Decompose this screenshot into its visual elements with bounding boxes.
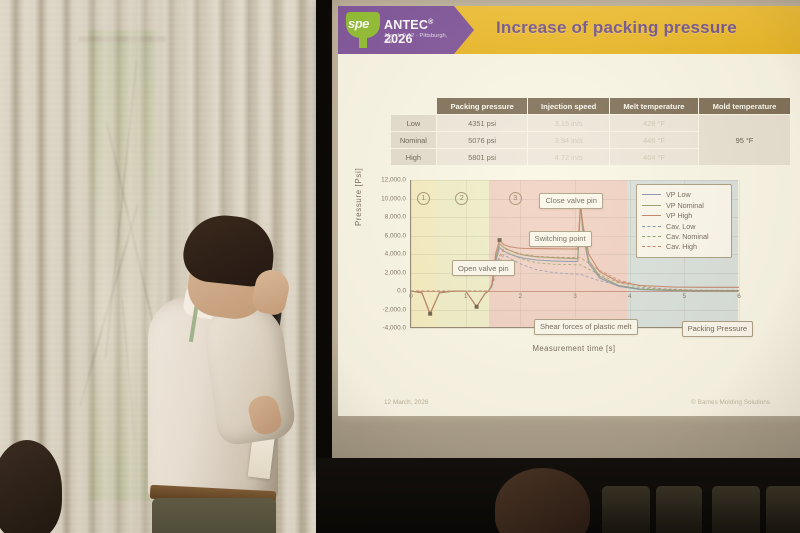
chart-annotation: Open valve pin — [452, 260, 515, 276]
chart-annotation: Shear forces of plastic melt — [534, 319, 638, 335]
chart-ytick-label: 4,000.0 — [385, 251, 411, 258]
chart-ytick-label: 12,000.0 — [381, 177, 411, 184]
chart-zone-marker-3: 3 — [509, 192, 522, 205]
chart-annotation: Switching point — [529, 231, 592, 247]
chart-data-marker — [498, 238, 502, 242]
chart-ytick-label: 8,000.0 — [385, 214, 411, 221]
legend-label: Cav. High — [666, 242, 697, 251]
row-label-low: Low — [391, 115, 437, 132]
presentation-scene: spe ANTEC® 2026 March 9-12 · Pittsburgh,… — [0, 0, 800, 533]
table-col-mold-temperature: Mold temperature — [698, 98, 790, 115]
audience-chair — [712, 486, 760, 533]
cell-injection-speed-high: 4.72 in/s — [528, 149, 609, 166]
cell-packing-pressure-low: 4351 psi — [436, 115, 528, 132]
legend-item: Cav. Low — [642, 222, 726, 231]
chart-data-marker — [475, 305, 479, 309]
chart-legend: VP LowVP NominalVP HighCav. LowCav. Nomi… — [636, 184, 732, 258]
table-row: Low 4351 psi 3.15 in/s 428 °F 95 °F — [391, 115, 791, 132]
slide-title: Increase of packing pressure — [496, 18, 737, 38]
table-col-injection-speed: Injection speed — [528, 98, 609, 115]
chart-annotation: Packing Pressure — [682, 321, 754, 337]
legend-item: Cav. Nominal — [642, 232, 726, 241]
chart-data-marker — [428, 312, 432, 316]
pressure-chart: Pressure [Psi] -4,000.0-2,000.00.02,000.… — [360, 174, 792, 374]
legend-swatch-icon — [642, 215, 661, 216]
cell-packing-pressure-high: 5801 psi — [436, 149, 528, 166]
chart-x-axis-label: Measurement time [s] — [410, 344, 738, 353]
audience-chair — [656, 486, 702, 533]
legend-label: Cav. Low — [666, 222, 695, 231]
table-col-packing-pressure: Packing pressure — [436, 98, 528, 115]
chart-zone-marker-2: 2 — [455, 192, 468, 205]
slide-header: spe ANTEC® 2026 March 9-12 · Pittsburgh,… — [338, 6, 800, 54]
table-header-row: Packing pressure Injection speed Melt te… — [391, 98, 791, 115]
legend-item: VP High — [642, 211, 726, 220]
legend-label: VP High — [666, 211, 692, 220]
presenter-pants — [152, 498, 276, 533]
presentation-slide: spe ANTEC® 2026 March 9-12 · Pittsburgh,… — [338, 6, 800, 416]
legend-label: Cav. Nominal — [666, 232, 709, 241]
chart-ytick-label: 10,000.0 — [381, 195, 411, 202]
row-label-nominal: Nominal — [391, 132, 437, 149]
spe-logo-icon: spe — [346, 12, 380, 48]
chart-y-axis-label: Pressure [Psi] — [354, 168, 363, 226]
cell-melt-temperature-high: 464 °F — [609, 149, 698, 166]
slide-footer-copyright: © Barnes Molding Solutions — [691, 399, 770, 406]
table-col-blank — [391, 98, 437, 115]
legend-item: VP Nominal — [642, 201, 726, 210]
legend-label: VP Low — [666, 190, 691, 199]
legend-swatch-icon — [642, 226, 661, 227]
legend-swatch-icon — [642, 246, 661, 247]
cell-melt-temperature-nominal: 446 °F — [609, 132, 698, 149]
chart-ytick-label: 6,000.0 — [385, 232, 411, 239]
cell-injection-speed-nominal: 3.94 in/s — [528, 132, 609, 149]
conference-dates: March 9-12 · Pittsburgh, PA — [385, 33, 454, 45]
chart-plot-area: -4,000.0-2,000.00.02,000.04,000.06,000.0… — [410, 180, 738, 328]
parameters-table: Packing pressure Injection speed Melt te… — [390, 98, 790, 165]
cell-packing-pressure-nominal: 5076 psi — [436, 132, 528, 149]
cell-melt-temperature-low: 428 °F — [609, 115, 698, 132]
chart-zone-marker-1: 1 — [417, 192, 430, 205]
slide-footer-date: 12 March, 2026 — [384, 399, 428, 406]
chart-annotation: Close valve pin — [539, 193, 603, 209]
legend-swatch-icon — [642, 205, 661, 206]
legend-label: VP Nominal — [666, 201, 704, 210]
presenter — [140, 210, 340, 533]
legend-item: VP Low — [642, 190, 726, 199]
table-col-melt-temperature: Melt temperature — [609, 98, 698, 115]
legend-item: Cav. High — [642, 242, 726, 251]
legend-swatch-icon — [642, 236, 661, 237]
audience-chair — [766, 486, 800, 533]
row-label-high: High — [391, 149, 437, 166]
chart-ytick-label: -4,000.0 — [383, 325, 411, 332]
cell-injection-speed-low: 3.15 in/s — [528, 115, 609, 132]
chart-ytick-label: 2,000.0 — [385, 269, 411, 276]
chart-ytick-label: -2,000.0 — [383, 306, 411, 313]
cell-mold-temperature: 95 °F — [698, 115, 790, 166]
legend-swatch-icon — [642, 194, 661, 195]
header-purple-band: spe ANTEC® 2026 March 9-12 · Pittsburgh,… — [338, 6, 454, 54]
audience-chair — [602, 486, 650, 533]
chart-gridline-x — [739, 180, 740, 327]
spe-logo-text: spe — [348, 16, 369, 31]
